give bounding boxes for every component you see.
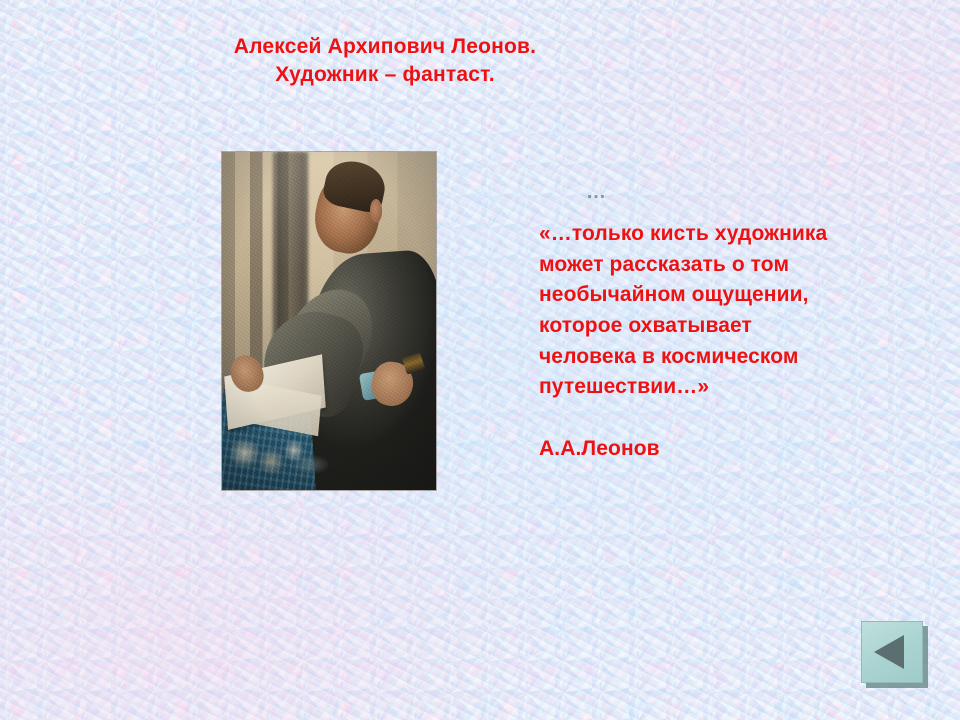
slide-canvas: Алексей Архипович Леонов. Художник – фан… (0, 0, 960, 720)
portrait-photo (222, 152, 436, 490)
back-navigation-button[interactable] (861, 621, 923, 683)
photo-vignette (222, 152, 436, 490)
quote-attribution: А.А.Леонов (539, 437, 660, 461)
triangle-left-icon (874, 635, 904, 669)
slide-title: Алексей Архипович Леонов. Художник – фан… (150, 33, 620, 88)
quote-leading-ellipsis: … (586, 181, 609, 204)
quote-text: «…только кисть художника может рассказат… (539, 219, 939, 403)
